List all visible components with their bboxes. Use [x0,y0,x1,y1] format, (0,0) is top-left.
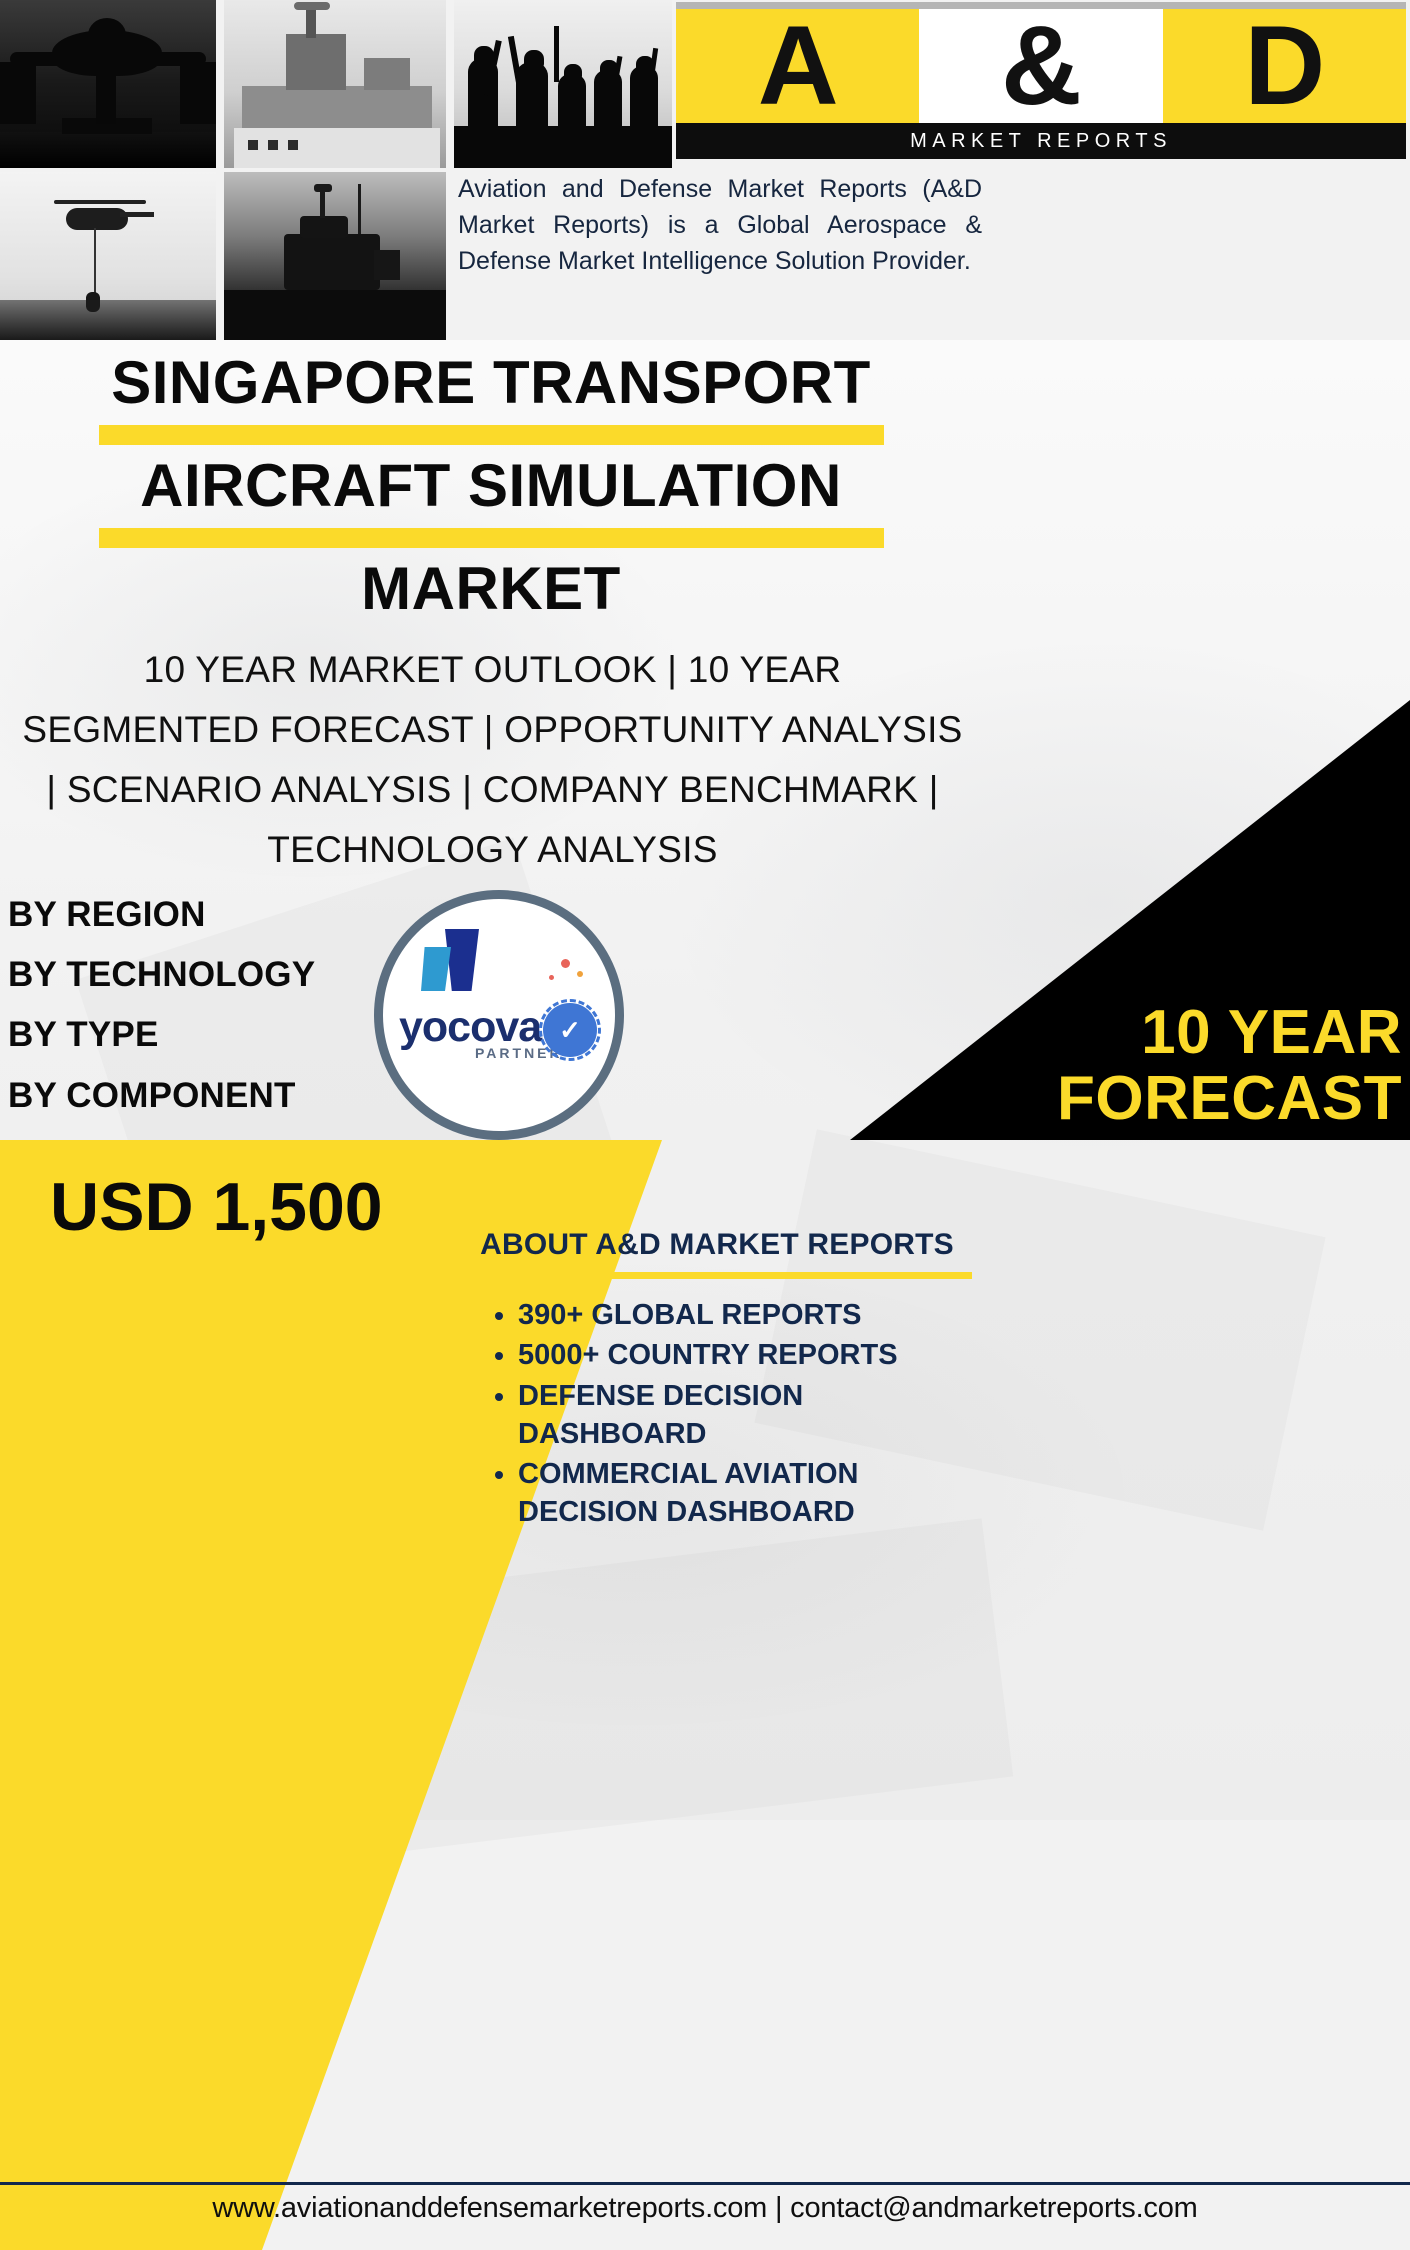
forecast-line-2: FORECAST [850,1066,1402,1132]
logo-letter-d: D [1163,9,1406,123]
about-item-global-reports: 390+ GLOBAL REPORTS [518,1296,982,1334]
price-label: USD 1,500 [50,1168,383,1246]
verified-check-icon: ✓ [543,1003,597,1057]
poster-canvas: A & D MARKET REPORTS Aviation and Defens… [0,0,1410,2250]
segment-item-type: BY TYPE [8,1005,315,1065]
title-line-1: SINGAPORE TRANSPORT [0,352,982,413]
aircraft-carrier-photo [224,0,446,168]
about-feature-list: 390+ GLOBAL REPORTS 5000+ COUNTRY REPORT… [486,1296,982,1534]
yocova-partner-badge: yocova PARTNER ✓ [374,890,624,1140]
intro-paragraph: Aviation and Defense Market Reports (A&D… [458,172,982,279]
soldiers-silhouette-photo [454,0,672,168]
title-block: SINGAPORE TRANSPORT AIRCRAFT SIMULATION … [0,352,982,620]
yocova-chevron-icon [417,929,537,991]
title-rule-2 [99,528,884,548]
segment-item-region: BY REGION [8,885,315,945]
logo-letter-a: A [676,9,919,123]
about-item-commercial-dashboard: COMMERCIAL AVIATION DECISION DASHBOARD [518,1455,982,1532]
brand-logo: A & D MARKET REPORTS [676,2,1406,162]
check-glyph: ✓ [557,1017,583,1043]
subtitle-text: 10 YEAR MARKET OUTLOOK | 10 YEAR SEGMENT… [20,640,965,880]
fighter-jet-photo [0,0,216,168]
title-rule-1 [99,425,884,445]
helicopter-photo [0,172,216,340]
segmentation-list: BY REGION BY TECHNOLOGY BY TYPE BY COMPO… [8,885,315,1126]
about-item-country-reports: 5000+ COUNTRY REPORTS [518,1336,982,1374]
armored-vehicle-photo [224,172,446,340]
footer-contact: www.aviationanddefensemarketreports.com … [0,2192,1410,2225]
photo-strip [0,0,672,340]
title-line-2: AIRCRAFT SIMULATION [0,455,982,516]
segment-item-component: BY COMPONENT [8,1066,315,1126]
about-item-defense-dashboard: DEFENSE DECISION DASHBOARD [518,1377,982,1454]
segment-item-technology: BY TECHNOLOGY [8,945,315,1005]
title-line-3: MARKET [0,558,982,619]
forecast-line-1: 10 YEAR [850,1000,1402,1066]
yocova-dots-icon [543,957,589,991]
logo-ampersand: & [919,9,1162,123]
about-heading-rule [460,1272,972,1279]
logo-band-label: MARKET REPORTS [676,123,1406,159]
about-heading: ABOUT A&D MARKET REPORTS [452,1228,982,1262]
forecast-callout: 10 YEAR FORECAST [850,1000,1410,1131]
footer-divider [0,2182,1410,2185]
